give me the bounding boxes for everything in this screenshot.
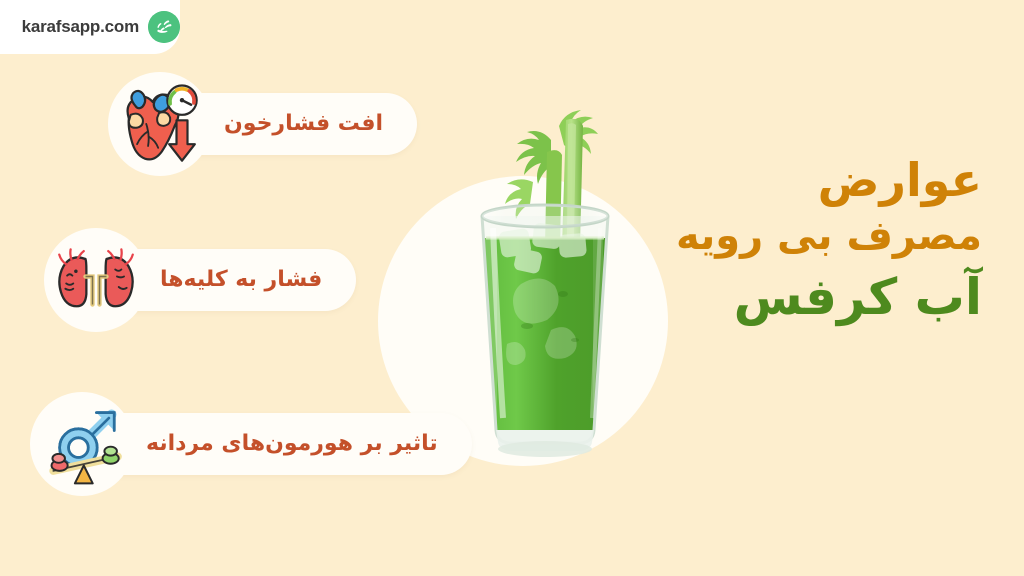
celery-juice-glass-image: [455, 78, 635, 460]
symptom-label: افت فشارخون: [224, 113, 383, 135]
glass-rim: [482, 205, 608, 227]
right-kidney: [100, 249, 133, 306]
pressure-gauge: [167, 86, 196, 115]
karafs-leaf-logo-icon: [148, 11, 180, 43]
headline-line-3: آب کرفس: [622, 267, 982, 328]
left-kidney: [59, 249, 92, 306]
brand-name: karafsapp.com: [22, 17, 139, 37]
symptom-label: فشار به کلیه‌ها: [160, 269, 322, 291]
kidneys-stressed-icon: [44, 228, 148, 332]
symptom-item-kidneys[interactable]: فشار به کلیه‌ها: [44, 228, 356, 332]
brand-badge[interactable]: karafsapp.com: [0, 0, 180, 54]
headline-line-1: عوارض: [622, 152, 982, 208]
symptom-item-blood-pressure[interactable]: افت فشارخون: [108, 72, 417, 176]
infographic-poster: karafsapp.com: [0, 0, 1024, 576]
headline: عوارض مصرف بی رویه آب کرفس: [622, 152, 982, 328]
symptom-item-male-hormones[interactable]: تاثیر بر هورمون‌های مردانه: [30, 392, 472, 496]
symptom-pill: تاثیر بر هورمون‌های مردانه: [88, 413, 472, 475]
heart-blood-pressure-down-icon: [108, 72, 212, 176]
male-hormone-balance-icon: [30, 392, 134, 496]
headline-line-2: مصرف بی رویه: [622, 212, 982, 261]
symptom-label: تاثیر بر هورمون‌های مردانه: [146, 433, 438, 455]
